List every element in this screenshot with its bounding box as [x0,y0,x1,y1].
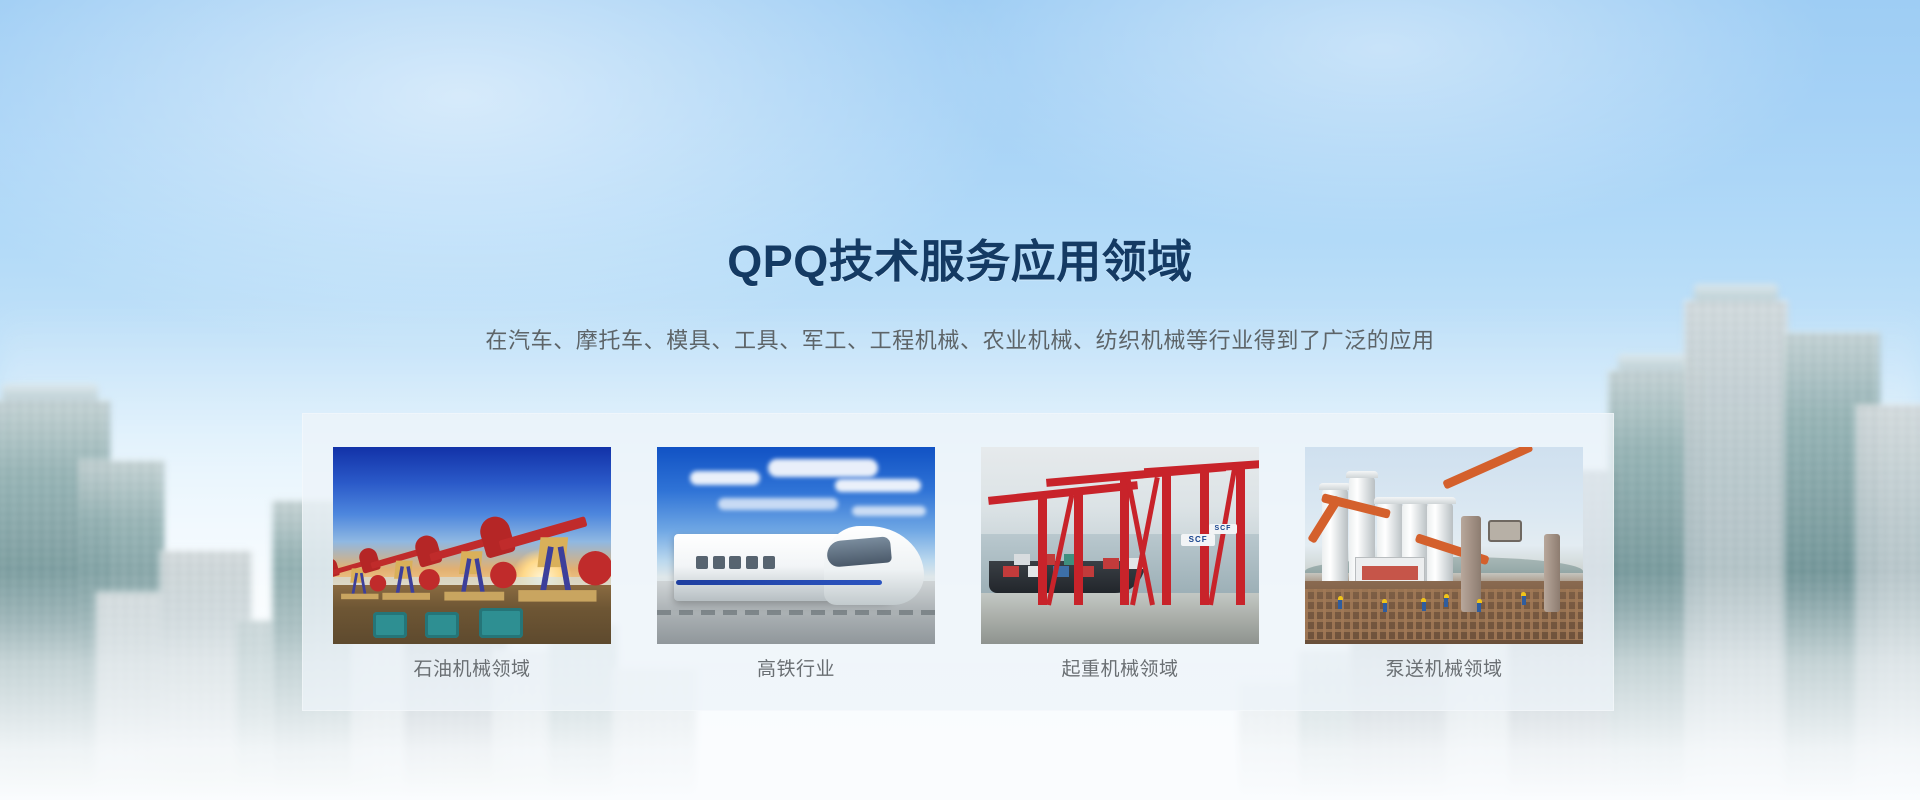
card-oil-machinery[interactable]: 石油机械领域 [333,447,611,683]
application-fields-banner: QPQ技术服务应用领域 在汽车、摩托车、模具、工具、军工、工程机械、农业机械、纺… [0,0,1920,800]
oil-pumpjack-image [333,447,611,644]
application-cards-list: 石油机械领域 [333,447,1583,683]
scf-logo: SCF [1209,524,1237,534]
page-subtitle: 在汽车、摩托车、模具、工具、军工、工程机械、农业机械、纺织机械等行业得到了广泛的… [0,330,1920,352]
card-caption: 石油机械领域 [333,660,611,679]
concrete-pump-image [1305,447,1583,644]
card-caption: 泵送机械领域 [1305,660,1583,679]
card-pumping-machinery[interactable]: 泵送机械领域 [1305,447,1583,683]
page-title: QPQ技术服务应用领域 [0,239,1920,284]
high-speed-train-image [657,447,935,644]
card-lifting-machinery[interactable]: SCF SCF 起重机械领域 [981,447,1259,683]
card-high-speed-rail[interactable]: 高铁行业 [657,447,935,683]
scf-logo: SCF [1181,534,1215,546]
port-gantry-crane-image: SCF SCF [981,447,1259,644]
card-caption: 起重机械领域 [981,660,1259,679]
card-caption: 高铁行业 [657,660,935,679]
